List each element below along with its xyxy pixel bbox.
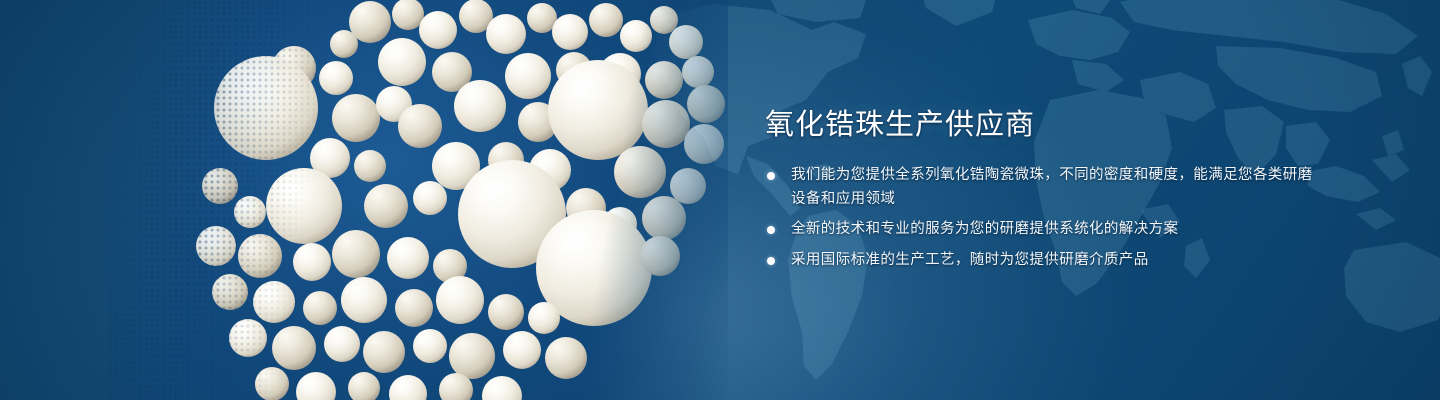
bullet-item-1: 我们能为您提供全系列氧化锆陶瓷微珠，不同的密度和硬度，能满足您各类研磨设备和应用…	[765, 164, 1325, 211]
bullet-item-3: 采用国际标准的生产工艺，随时为您提供研磨介质产品	[765, 249, 1325, 273]
bullet-dot-icon	[767, 226, 775, 234]
bullet-item-2: 全新的技术和专业的服务为您的研磨提供系统化的解决方案	[765, 218, 1325, 242]
bullet-text-3: 采用国际标准的生产工艺，随时为您提供研磨介质产品	[791, 252, 1149, 268]
zirconia-beads-photo	[108, 0, 728, 400]
banner-bullet-list: 我们能为您提供全系列氧化锆陶瓷微珠，不同的密度和硬度，能满足您各类研磨设备和应用…	[765, 164, 1325, 272]
hero-banner: 氧化锆珠生产供应商 我们能为您提供全系列氧化锆陶瓷微珠，不同的密度和硬度，能满足…	[0, 0, 1440, 400]
bullet-text-2: 全新的技术和专业的服务为您的研磨提供系统化的解决方案	[791, 221, 1178, 237]
banner-copy: 氧化锆珠生产供应商 我们能为您提供全系列氧化锆陶瓷微珠，不同的密度和硬度，能满足…	[765, 108, 1325, 272]
banner-headline: 氧化锆珠生产供应商	[765, 108, 1325, 142]
bullet-dot-icon	[767, 257, 775, 265]
bullet-text-1: 我们能为您提供全系列氧化锆陶瓷微珠，不同的密度和硬度，能满足您各类研磨设备和应用…	[791, 167, 1313, 207]
bullet-dot-icon	[767, 172, 775, 180]
